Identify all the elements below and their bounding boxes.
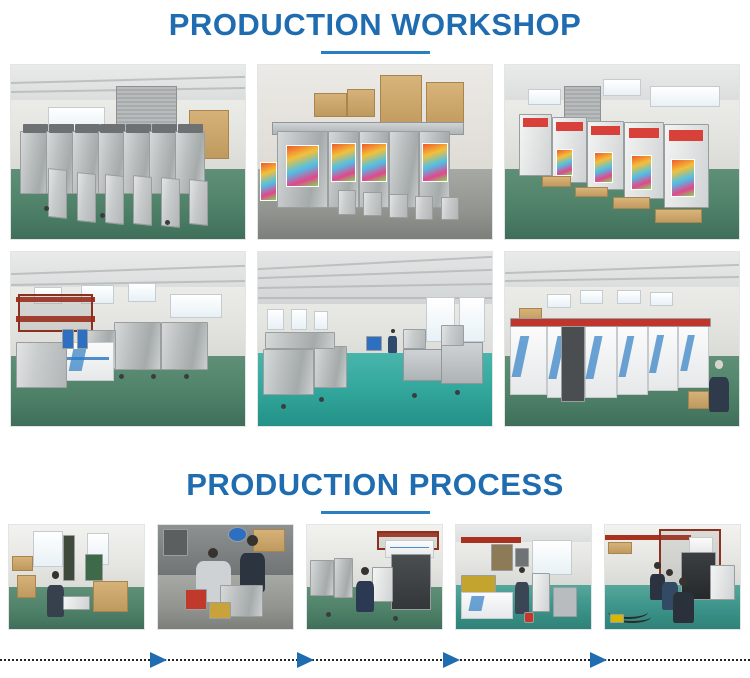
- production-page: PRODUCTION WORKSHOP: [0, 0, 750, 678]
- section-heading-workshop: PRODUCTION WORKSHOP: [0, 8, 750, 54]
- process-photo-3[interactable]: [306, 524, 443, 630]
- flow-arrow-right-icon-1: [150, 652, 167, 668]
- workshop-photo-5[interactable]: [257, 251, 493, 427]
- process-photo-4[interactable]: [455, 524, 592, 630]
- section-heading-process: PRODUCTION PROCESS: [0, 468, 750, 514]
- flow-arrow-right-icon-3: [443, 652, 460, 668]
- process-photo-1[interactable]: [8, 524, 145, 630]
- workshop-photo-grid: [10, 64, 740, 427]
- process-photo-4-scene: [456, 525, 591, 629]
- workshop-photo-3[interactable]: [504, 64, 740, 240]
- workshop-photo-2[interactable]: [257, 64, 493, 240]
- process-photo-2[interactable]: [157, 524, 294, 630]
- process-photo-5-scene: [605, 525, 740, 629]
- workshop-photo-1[interactable]: [10, 64, 246, 240]
- flow-arrow-right-icon-2: [297, 652, 314, 668]
- process-photo-5[interactable]: [604, 524, 741, 630]
- heading-underline-workshop: [321, 51, 430, 54]
- workshop-photo-6[interactable]: [504, 251, 740, 427]
- workshop-photo-4-scene: [11, 252, 245, 426]
- flow-arrow-right-icon-4: [590, 652, 607, 668]
- process-flow-dotted-line: [0, 659, 750, 661]
- section-title-workshop: PRODUCTION WORKSHOP: [0, 8, 750, 42]
- workshop-photo-1-scene: [11, 65, 245, 239]
- heading-underline-process: [321, 511, 430, 514]
- process-photo-grid: [8, 524, 742, 630]
- process-flow-strip: [0, 652, 750, 668]
- section-title-process: PRODUCTION PROCESS: [0, 468, 750, 502]
- process-photo-1-scene: [9, 525, 144, 629]
- process-photo-3-scene: [307, 525, 442, 629]
- process-photo-2-scene: [158, 525, 293, 629]
- workshop-photo-4[interactable]: [10, 251, 246, 427]
- workshop-photo-2-scene: [258, 65, 492, 239]
- workshop-photo-3-scene: [505, 65, 739, 239]
- workshop-photo-6-scene: [505, 252, 739, 426]
- workshop-photo-5-scene: [258, 252, 492, 426]
